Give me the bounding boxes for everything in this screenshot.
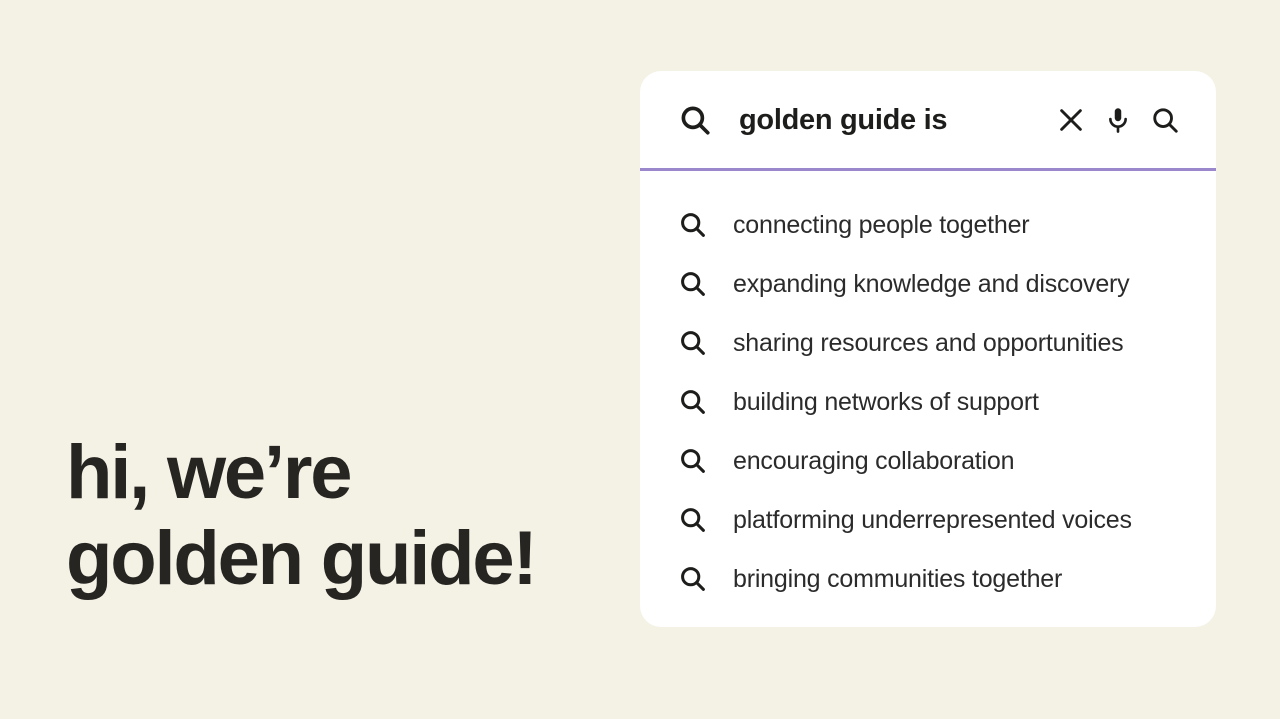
list-item[interactable]: connecting people together (640, 195, 1216, 254)
search-icon (678, 387, 707, 416)
search-icon (678, 446, 707, 475)
search-bar[interactable]: golden guide is (640, 71, 1216, 168)
list-item[interactable]: encouraging collaboration (640, 431, 1216, 490)
page-title: hi, we’re golden guide! (66, 430, 606, 602)
suggestion-label: connecting people together (733, 210, 1029, 240)
search-icon (678, 103, 712, 137)
list-item[interactable]: building networks of support (640, 372, 1216, 431)
suggestion-label: expanding knowledge and discovery (733, 269, 1129, 299)
suggestion-label: bringing communities together (733, 564, 1062, 594)
search-card: golden guide is (640, 71, 1216, 627)
search-icon (678, 505, 707, 534)
suggestion-label: building networks of support (733, 387, 1039, 417)
search-bar-actions (1056, 105, 1180, 135)
list-item[interactable]: bringing communities together (640, 549, 1216, 608)
close-icon[interactable] (1056, 105, 1086, 135)
suggestion-label: platforming underrepresented voices (733, 505, 1132, 535)
suggestion-label: sharing resources and opportunities (733, 328, 1123, 358)
list-item[interactable]: expanding knowledge and discovery (640, 254, 1216, 313)
suggestion-label: encouraging collaboration (733, 446, 1014, 476)
page-title-line-2: golden guide! (66, 516, 606, 602)
page-title-line-1: hi, we’re (66, 430, 606, 516)
list-item[interactable]: sharing resources and opportunities (640, 313, 1216, 372)
search-submit-icon[interactable] (1150, 105, 1180, 135)
search-icon (678, 564, 707, 593)
search-icon (678, 210, 707, 239)
microphone-icon[interactable] (1103, 105, 1133, 135)
search-icon (678, 269, 707, 298)
list-item[interactable]: platforming underrepresented voices (640, 490, 1216, 549)
suggestion-list: connecting people together expanding kno… (640, 168, 1216, 608)
search-divider (640, 168, 1216, 171)
search-icon (678, 328, 707, 357)
search-input[interactable]: golden guide is (739, 103, 1056, 137)
